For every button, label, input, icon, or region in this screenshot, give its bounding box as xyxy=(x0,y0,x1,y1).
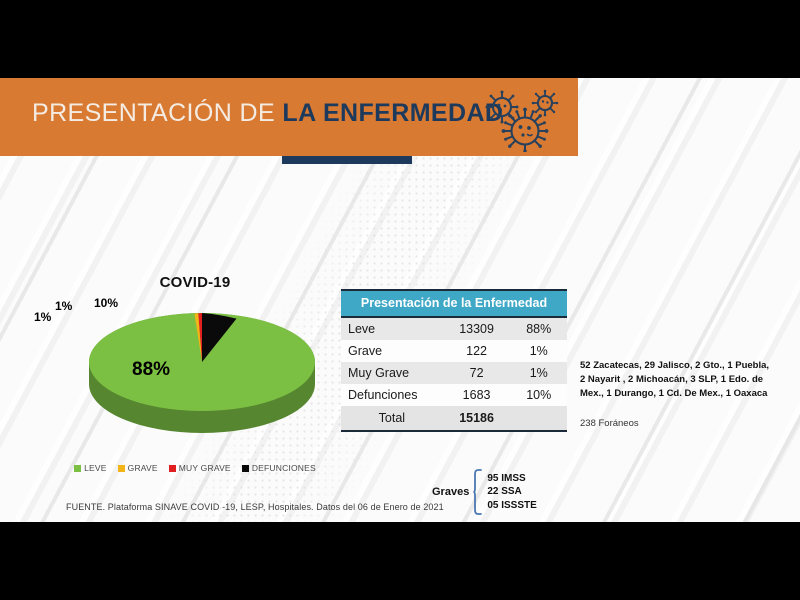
source-footer: FUENTE. Plataforma SINAVE COVID -19, LES… xyxy=(66,502,444,512)
legend-item-muy-grave: MUY GRAVE xyxy=(169,463,231,473)
row-count: 72 xyxy=(443,362,511,384)
states-line-3: Mex., 1 Durango, 1 Cd. De Mex., 1 Oaxaca xyxy=(580,387,795,401)
legend-label-muy-grave: MUY GRAVE xyxy=(179,463,231,473)
row-label: Leve xyxy=(341,317,443,340)
legend-label-grave: GRAVE xyxy=(128,463,158,473)
table-header-row: Presentación de la Enfermedad xyxy=(341,290,567,317)
legend-label-defunciones: DEFUNCIONES xyxy=(252,463,316,473)
chart-legend: LEVE GRAVE MUY GRAVE DEFUNCIONES xyxy=(60,463,330,473)
total-pct xyxy=(510,406,567,431)
table-row: Muy Grave 72 1% xyxy=(341,362,567,384)
row-count: 13309 xyxy=(443,317,511,340)
legend-item-leve: LEVE xyxy=(74,463,107,473)
letterbox-top xyxy=(0,0,800,78)
chart-title: COVID-19 xyxy=(60,274,330,291)
presentation-table: Presentación de la Enfermedad Leve 13309… xyxy=(341,289,567,432)
pie-label-muy-grave: 1% xyxy=(34,310,51,324)
graves-item-2: 05 ISSSTE xyxy=(487,500,536,511)
graves-group-items: 95 IMSS 22 SSA 05 ISSSTE xyxy=(487,472,536,513)
row-count: 1683 xyxy=(443,384,511,406)
graves-group-label: Graves xyxy=(432,486,469,498)
row-count: 122 xyxy=(443,340,511,362)
legend-swatch-leve xyxy=(74,465,81,472)
title-accent-bar xyxy=(282,156,412,164)
page-title: PRESENTACIÓN DE LA ENFERMEDAD xyxy=(32,99,503,128)
header-banner: PRESENTACIÓN DE LA ENFERMEDAD xyxy=(0,78,578,156)
graves-item-1: 22 SSA xyxy=(487,486,521,497)
legend-item-grave: GRAVE xyxy=(118,463,158,473)
table-total-row: Total 15186 xyxy=(341,406,567,431)
total-label: Total xyxy=(341,406,443,431)
slide-viewer: PRESENTACIÓN DE LA ENFERMEDAD xyxy=(0,0,800,600)
states-line-1: 52 Zacatecas, 29 Jalisco, 2 Gto., 1 Pueb… xyxy=(580,359,795,373)
graves-item-0: 95 IMSS xyxy=(487,473,525,484)
pie-label-defunciones: 10% xyxy=(94,296,118,310)
row-pct: 1% xyxy=(510,362,567,384)
letterbox-bottom xyxy=(0,522,800,600)
row-pct: 88% xyxy=(510,317,567,340)
row-pct: 10% xyxy=(510,384,567,406)
row-pct: 1% xyxy=(510,340,567,362)
row-label: Defunciones xyxy=(341,384,443,406)
table-header-title: Presentación de la Enfermedad xyxy=(341,290,567,317)
legend-swatch-defunciones xyxy=(242,465,249,472)
table-row: Grave 122 1% xyxy=(341,340,567,362)
row-label: Grave xyxy=(341,340,443,362)
states-breakdown-note: 52 Zacatecas, 29 Jalisco, 2 Gto., 1 Pueb… xyxy=(580,359,795,400)
total-value: 15186 xyxy=(443,406,511,431)
legend-label-leve: LEVE xyxy=(84,463,107,473)
table-row: Defunciones 1683 10% xyxy=(341,384,567,406)
legend-swatch-grave xyxy=(118,465,125,472)
table-row: Leve 13309 88% xyxy=(341,317,567,340)
pie-label-leve: 88% xyxy=(132,359,170,381)
pie-label-grave: 1% xyxy=(55,299,72,313)
page-title-bold: LA ENFERMEDAD xyxy=(282,99,503,127)
states-line-2: 2 Nayarit , 2 Michoacán, 3 SLP, 1 Edo. d… xyxy=(580,373,795,387)
brace-icon xyxy=(473,469,482,515)
coronavirus-icon xyxy=(478,86,574,152)
legend-swatch-muy-grave xyxy=(169,465,176,472)
row-label: Muy Grave xyxy=(341,362,443,384)
page-title-light: PRESENTACIÓN DE xyxy=(32,99,282,127)
foraneos-note: 238 Foráneos xyxy=(580,418,639,429)
graves-group: Graves 95 IMSS 22 SSA 05 ISSSTE xyxy=(432,469,537,515)
legend-item-defunciones: DEFUNCIONES xyxy=(242,463,316,473)
pie-chart xyxy=(86,300,318,455)
slide-canvas: PRESENTACIÓN DE LA ENFERMEDAD xyxy=(0,78,800,522)
